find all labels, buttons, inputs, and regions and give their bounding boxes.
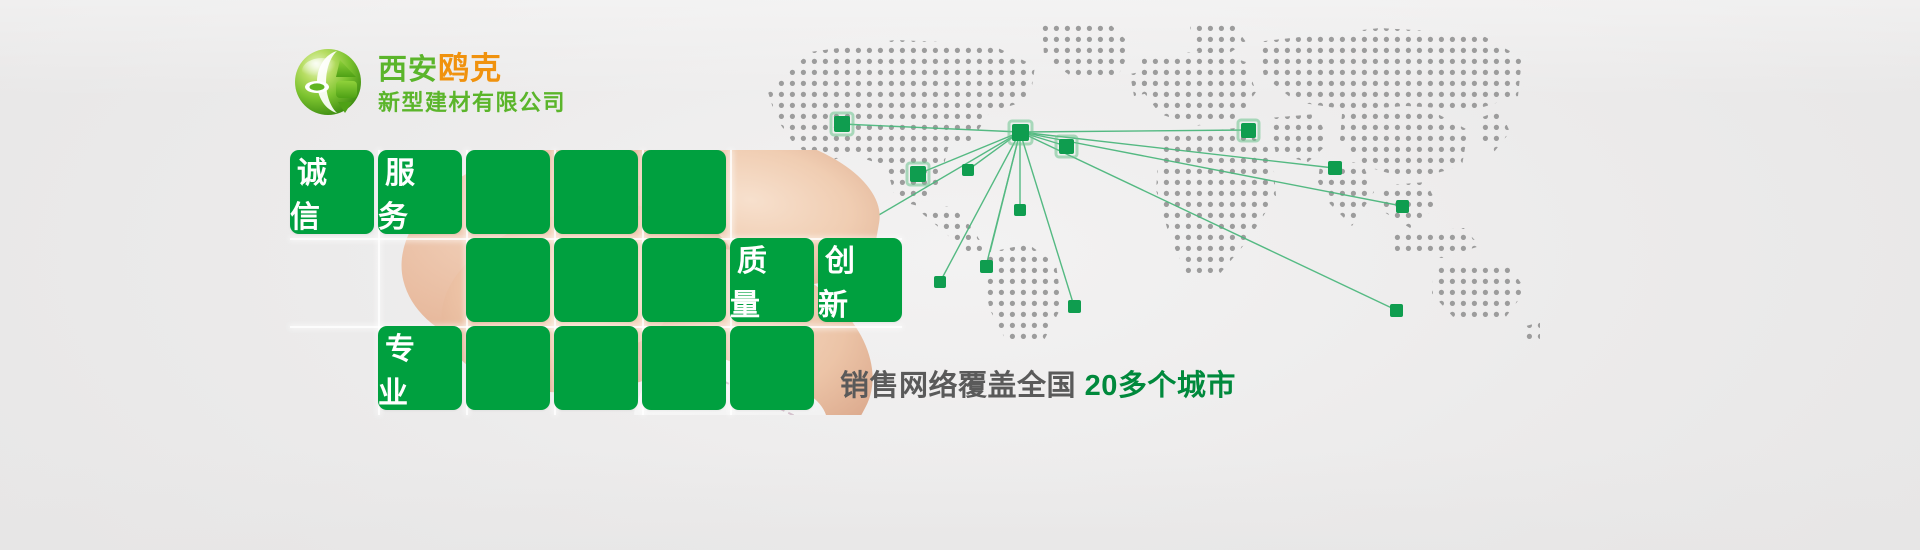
tile-zhiliang[interactable]: 质 量 <box>730 238 814 322</box>
tile-blank-r2c4[interactable] <box>554 238 638 322</box>
company-logo[interactable]: 西安鸥克 新型建材有限公司 <box>292 46 566 118</box>
tile-zhuanye[interactable]: 专 业 <box>378 326 462 410</box>
hero-banner: 西安鸥克 新型建材有限公司 <box>0 0 1920 550</box>
tile-blank-r3c3[interactable] <box>466 326 550 410</box>
caption-highlight: 20多个城市 <box>1085 370 1236 402</box>
tile-blank-r3c4[interactable] <box>554 326 638 410</box>
tile-blank-r1c3[interactable] <box>466 150 550 234</box>
tile-chuangxin[interactable]: 创 新 <box>818 238 902 322</box>
sales-network-caption: 销售网络覆盖全国 20多个城市 <box>840 362 1236 404</box>
tile-blank-r2c3[interactable] <box>466 238 550 322</box>
tile-blank-r1c4[interactable] <box>554 150 638 234</box>
tile-chengxin[interactable]: 诚 信 <box>290 150 374 234</box>
logo-city: 西安 <box>378 54 438 86</box>
logo-wordmark: 西安鸥克 新型建材有限公司 <box>378 49 566 115</box>
tile-blank-r3c5[interactable] <box>642 326 726 410</box>
caption-prefix: 销售网络覆盖全国 <box>840 370 1085 402</box>
oke-globe-logo-icon <box>292 46 364 118</box>
logo-line-1: 西安鸥克 <box>378 51 566 87</box>
logo-line-2: 新型建材有限公司 <box>378 90 566 115</box>
tile-blank-r2c5[interactable] <box>642 238 726 322</box>
values-tile-grid: 诚 信 服 务 质 量 创 新 专 业 <box>290 150 902 415</box>
tile-blank-r1c5[interactable] <box>642 150 726 234</box>
tile-fuwu[interactable]: 服 务 <box>378 150 462 234</box>
logo-brand: 鸥克 <box>438 51 502 86</box>
tile-blank-r3c6[interactable] <box>730 326 814 410</box>
